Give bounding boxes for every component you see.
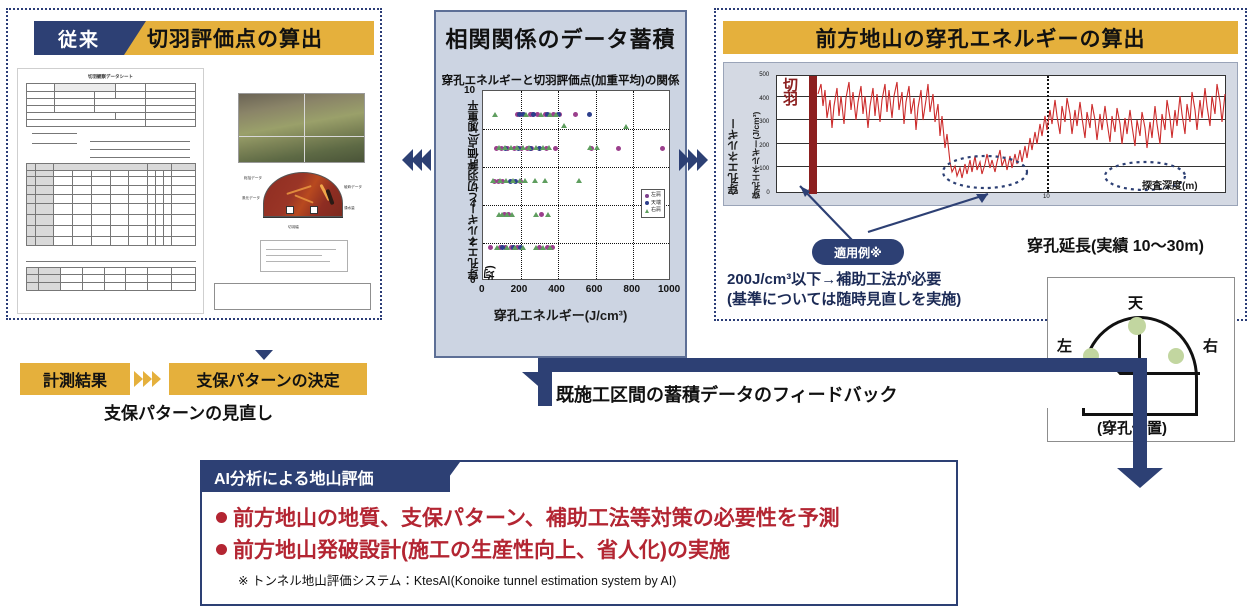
scatter-point-triangle xyxy=(533,212,539,217)
chart-y-axis-title-outer: 穿孔エネルギー xyxy=(726,75,742,195)
scatter-plot-area: 左肩 天端 右肩 xyxy=(482,90,670,280)
callout-line-1 xyxy=(800,186,852,240)
ai-bullet-1-label: 前方地山の地質、支保パターン、補助工法等対策の必要性を予測 xyxy=(233,502,840,532)
sketch-zone-marker xyxy=(286,206,294,214)
datasheet-title: 切羽観察データシート xyxy=(18,74,203,80)
middle-panel-title: 相関関係のデータ蓄積 xyxy=(434,22,687,54)
example-pill: 適用例※ xyxy=(812,239,904,265)
legend-label: 右肩 xyxy=(651,207,661,215)
scatter-x-axis-title: 穿孔エネルギー(J/cm³) xyxy=(434,305,687,324)
ai-bullet-2: 前方地山発破設計(施工の生産性向上、省人化)の実施 xyxy=(216,534,730,564)
photo-crosshair-horizontal xyxy=(239,136,364,137)
bullet-icon xyxy=(216,512,227,523)
datasheet-rule xyxy=(90,157,190,158)
chart-y-tick: 500 xyxy=(759,72,769,78)
scatter-point-triangle xyxy=(503,178,509,183)
left-panel-badge: 従来 xyxy=(34,21,124,55)
thumb-rule xyxy=(266,249,336,250)
scatter-point-triangle xyxy=(509,212,515,217)
criteria-line-2: (基準については随時見直しを実施) xyxy=(727,290,1017,310)
scatter-x-tick: 600 xyxy=(586,284,603,295)
scatter-point-triangle xyxy=(533,245,539,250)
tunnel-label-right: 右 xyxy=(1203,335,1218,356)
callout-line-2 xyxy=(868,194,988,232)
scatter-point-triangle xyxy=(540,245,546,250)
legend-item: 天端 xyxy=(645,200,661,208)
arrows-right-group xyxy=(679,148,711,174)
sketch-width-label: 切羽幅 xyxy=(288,225,299,230)
scatter-point-triangle xyxy=(504,245,510,250)
bullet-icon xyxy=(216,544,227,555)
chart-y-tick: 100 xyxy=(759,166,769,172)
ai-bullet-1: 前方地山の地質、支保パターン、補助工法等対策の必要性を予測 xyxy=(216,502,840,532)
measurement-to-support-arrows xyxy=(134,371,168,387)
scatter-point-circle xyxy=(660,146,665,151)
datasheet-rule xyxy=(90,149,190,150)
small-right-arrow-icon xyxy=(152,371,161,387)
drill-position-crown xyxy=(1128,317,1146,335)
scatter-point-triangle xyxy=(547,112,553,117)
drill-position-right xyxy=(1168,348,1184,364)
datasheet-rule xyxy=(26,261,196,262)
scatter-point-triangle xyxy=(553,112,559,117)
left-panel-badge-label: 従来 xyxy=(58,25,100,52)
small-right-arrow-icon xyxy=(134,371,143,387)
sketch-callout-label: 総括データ xyxy=(244,176,262,181)
chart-y-axis-title-inner: 穿孔エネルギー(J/cm³) xyxy=(750,73,762,199)
criteria-text: 200J/cm³以下→補助工法が必要 (基準については随時見直しを実施) xyxy=(727,270,1017,311)
scatter-x-tick: 1000 xyxy=(658,284,680,295)
tunnel-caption: (穿孔位置) xyxy=(1097,417,1167,438)
scatter-point-circle xyxy=(616,146,621,151)
scatter-point-triangle xyxy=(533,145,539,150)
chart-y-tick: 0 xyxy=(766,190,769,196)
scatter-point-triangle xyxy=(547,245,553,250)
ai-system-note: ※ トンネル地山評価システム：KtesAI(Konoike tunnel est… xyxy=(238,570,676,589)
support-review-label: 支保パターンの見直し xyxy=(104,399,273,424)
scatter-point-triangle xyxy=(512,245,518,250)
tunnel-label-top: 天 xyxy=(1128,292,1143,313)
scatter-x-tick: 0 xyxy=(479,284,485,295)
scatter-point-triangle xyxy=(510,178,516,183)
scatter-point-triangle xyxy=(523,112,529,117)
datasheet-evaluation-grid xyxy=(26,163,196,246)
scatter-point-circle xyxy=(573,112,578,117)
legend-marker-circle-blue xyxy=(645,201,649,205)
datasheet-header-table xyxy=(26,83,196,127)
criteria-line-1: 200J/cm³以下→補助工法が必要 xyxy=(727,270,1017,290)
tunnel-label-left: 左 xyxy=(1057,335,1072,356)
scatter-point-triangle xyxy=(587,145,593,150)
scatter-point-triangle xyxy=(546,145,552,150)
scatter-point-circle xyxy=(587,112,592,117)
sketch-callout-label: 風化データ xyxy=(242,196,260,201)
scatter-y-axis-title: 穿孔エネルギーと切羽評価点(加重平均) xyxy=(466,92,498,280)
callout-arrowhead-2 xyxy=(976,194,988,203)
tunnel-face-label-char2: 羽 xyxy=(783,93,798,107)
left-arrow-icon xyxy=(420,149,431,171)
chart-y-tick: 200 xyxy=(759,143,769,149)
feedback-arrow-shaft xyxy=(538,358,1147,372)
feedback-arrow-head-right xyxy=(1117,468,1163,488)
legend-label: 左肩 xyxy=(651,192,661,200)
scatter-point-circle xyxy=(539,212,544,217)
feedback-label: 既施工区間の蓄積データのフィードバック xyxy=(556,381,898,407)
ai-analysis-header: AI分析による地山評価 xyxy=(202,462,450,492)
photo-crosshair-vertical xyxy=(304,94,305,162)
arrows-left-group xyxy=(402,148,432,174)
chart-x-axis-title: 探査深度(m) xyxy=(1142,177,1198,192)
scatter-point-triangle xyxy=(526,145,532,150)
scatter-point-triangle xyxy=(594,145,600,150)
datasheet-footer-table xyxy=(26,267,196,291)
scatter-point-triangle xyxy=(522,178,528,183)
scatter-x-tick: 800 xyxy=(623,284,640,295)
supplementary-chart-thumb xyxy=(260,240,348,272)
datasheet-rule xyxy=(90,141,190,142)
tunnel-face-photo xyxy=(238,93,365,163)
scatter-point-triangle xyxy=(520,245,526,250)
left-panel-title: 切羽評価点の算出 xyxy=(147,23,323,53)
example-pill-label: 適用例※ xyxy=(834,244,882,261)
ai-header-slant-shape xyxy=(438,462,460,492)
right-panel-title-bar: 前方地山の穿孔エネルギーの算出 xyxy=(723,21,1238,54)
legend-item: 右肩 xyxy=(645,207,661,215)
legend-item: 左肩 xyxy=(645,192,661,200)
support-pattern-label: 支保パターンの決定 xyxy=(196,367,339,391)
scatter-point-triangle xyxy=(545,212,551,217)
support-pattern-down-arrow-icon xyxy=(255,350,273,360)
thumb-rule xyxy=(266,255,322,256)
support-pattern-pill: 支保パターンの決定 xyxy=(169,363,367,395)
badge-slant-shape xyxy=(124,21,146,55)
sketch-callout-label: 破砕データ xyxy=(344,185,362,190)
datasheet-rule xyxy=(32,133,77,134)
scatter-point-triangle xyxy=(514,145,520,150)
small-right-arrow-icon xyxy=(143,371,152,387)
measurement-result-pill: 計測結果 xyxy=(20,363,130,395)
scatter-point-triangle xyxy=(532,178,538,183)
sketch-callout-label: 湧水量 xyxy=(344,206,355,211)
right-panel-title: 前方地山の穿孔エネルギーの算出 xyxy=(816,23,1146,53)
sketch-stratum-line xyxy=(286,185,311,195)
tunnel-face-label: 切 羽 xyxy=(783,79,798,108)
ai-analysis-header-label: AI分析による地山評価 xyxy=(214,465,374,489)
drilling-energy-plot-area: 切 羽 xyxy=(776,75,1226,193)
scatter-point-triangle xyxy=(623,124,629,129)
summary-blank-box xyxy=(214,283,371,310)
scatter-point-triangle xyxy=(542,178,548,183)
scatter-point-circle xyxy=(553,146,558,151)
sketch-stratum-line xyxy=(294,194,313,203)
chart-y-tick: 400 xyxy=(759,96,769,102)
scatter-legend: 左肩 天端 右肩 xyxy=(641,189,665,218)
thumb-rule xyxy=(266,261,330,262)
legend-marker-triangle-green xyxy=(645,209,649,213)
scatter-points-layer xyxy=(483,91,669,279)
scatter-point-triangle xyxy=(561,123,567,128)
sketch-zone-marker xyxy=(310,206,318,214)
sketch-base-line xyxy=(263,217,343,218)
chart-y-tick: 300 xyxy=(759,119,769,125)
right-arrow-icon xyxy=(697,149,708,171)
legend-label: 天端 xyxy=(651,200,661,208)
scatter-point-triangle xyxy=(502,145,508,150)
scatter-point-triangle xyxy=(576,178,582,183)
scatter-x-tick: 400 xyxy=(548,284,565,295)
ai-bullet-2-label: 前方地山発破設計(施工の生産性向上、省人化)の実施 xyxy=(233,534,730,564)
legend-marker-circle-purple xyxy=(645,194,649,198)
drill-length-note: 穿孔延長(実績 10〜30m) xyxy=(1027,232,1204,256)
scatter-x-tick: 200 xyxy=(511,284,528,295)
scatter-point-triangle xyxy=(538,112,544,117)
datasheet-rule xyxy=(32,143,77,144)
measurement-result-label: 計測結果 xyxy=(43,367,107,391)
face-observation-datasheet: 切羽観察データシート xyxy=(17,68,204,314)
